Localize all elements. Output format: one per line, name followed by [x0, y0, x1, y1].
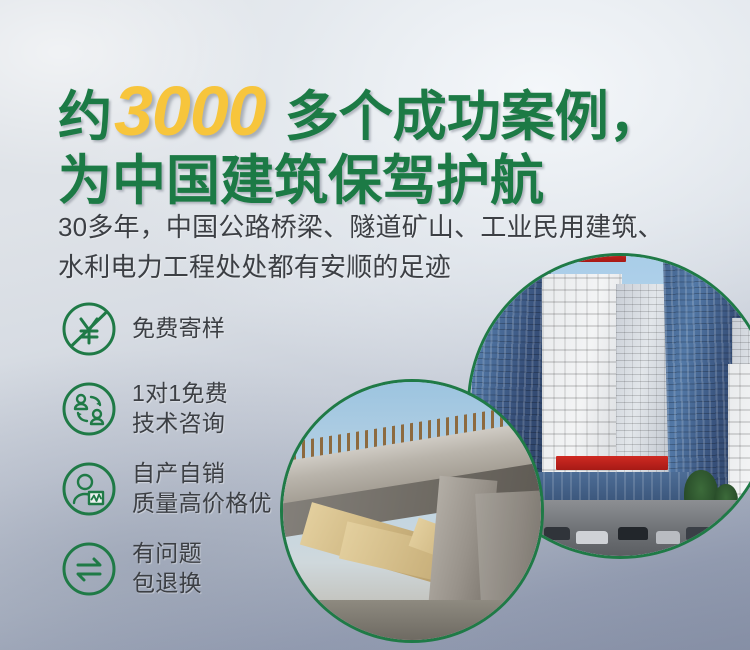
feature-list: 免费寄样 [60, 298, 320, 600]
feature-item-free-sample: 免费寄样 [60, 298, 320, 360]
feature-label: 有问题 包退换 [132, 539, 202, 599]
feature-item-self-produce: 自产自销 质量高价格优 [60, 458, 320, 520]
headline-prefix: 约 [58, 87, 112, 147]
headline-suffix: 多个成功案例， [270, 87, 663, 147]
feature-label: 1对1免费 技术咨询 [132, 379, 228, 439]
entrance-sign [556, 456, 668, 470]
feature-label: 自产自销 质量高价格优 [132, 459, 272, 519]
car [686, 527, 714, 540]
headline-line2-text: 为中国建筑保驾护航 [58, 151, 544, 211]
feature-label: 免费寄样 [132, 314, 225, 344]
headline-line-1: 约3000 多个成功案例， [58, 76, 663, 146]
self-produce-sell-icon [60, 460, 118, 518]
car [656, 531, 680, 544]
car [576, 531, 608, 544]
return-exchange-icon [60, 540, 118, 598]
promo-banner: 约3000 多个成功案例， 为中国建筑保驾护航 30多年，中国公路桥梁、隧道矿山… [0, 0, 750, 650]
ground-rubble [283, 600, 541, 640]
car [618, 527, 648, 540]
subtitle: 30多年，中国公路桥梁、隧道矿山、工业民用建筑、 水利电力工程处处都有安顺的足迹 [58, 208, 718, 287]
feature-item-consulting: 1对1免费 技术咨询 [60, 378, 320, 440]
subtitle-line-1: 30多年，中国公路桥梁、隧道矿山、工业民用建筑、 [58, 208, 718, 248]
bridge-scene [283, 382, 541, 640]
car [544, 527, 570, 540]
feature-item-return-exchange: 有问题 包退换 [60, 538, 320, 600]
one-on-one-consult-icon [60, 380, 118, 438]
bridge-photo [283, 382, 541, 640]
headline: 约3000 多个成功案例， 为中国建筑保驾护航 [58, 76, 663, 208]
free-sample-icon [60, 300, 118, 358]
headline-number: 3000 [112, 72, 270, 150]
subtitle-line-2: 水利电力工程处处都有安顺的足迹 [58, 248, 718, 288]
headline-line-2: 为中国建筑保驾护航 [58, 154, 663, 208]
